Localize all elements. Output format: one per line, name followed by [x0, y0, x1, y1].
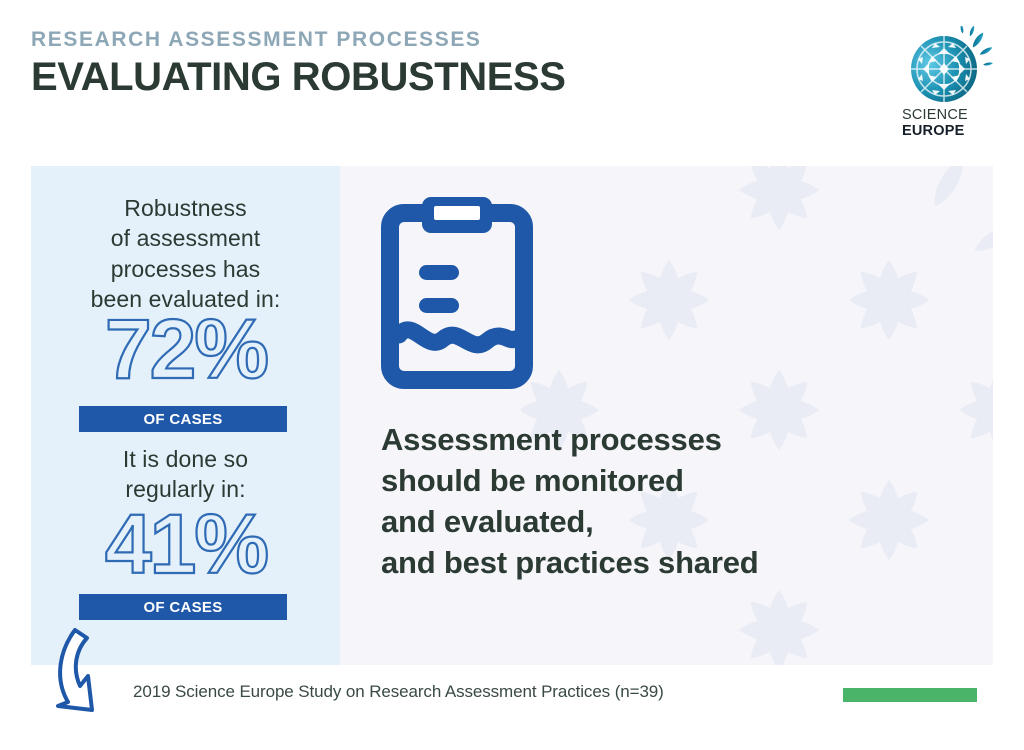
- stat-badge-2: OF CASES: [79, 594, 287, 620]
- stat-value-2: 41%: [31, 503, 340, 587]
- green-accent-bar: [843, 688, 977, 702]
- science-europe-sphere-icon: [902, 26, 994, 106]
- stat-badge-label-1: OF CASES: [143, 411, 222, 428]
- stat-badge-label-2: OF CASES: [143, 599, 222, 616]
- percent-72-outline: 72%: [77, 308, 295, 392]
- logo-wordmark: SCIENCE EUROPE: [902, 108, 994, 138]
- percent-72-text: 72%: [104, 308, 266, 392]
- percent-41-text: 41%: [104, 503, 266, 587]
- logo-text-europe: EUROPE: [902, 124, 994, 139]
- stat-value-1: 72%: [31, 308, 340, 392]
- logo-text-science: SCIENCE: [902, 108, 994, 123]
- stat-badge-1: OF CASES: [79, 406, 287, 432]
- footnote-text: 2019 Science Europe Study on Research As…: [133, 682, 664, 702]
- stat-caption-1: Robustness of assessment processes has b…: [31, 193, 340, 314]
- page-header: RESEARCH ASSESSMENT PROCESSES EVALUATING…: [31, 28, 891, 100]
- page-title: EVALUATING ROBUSTNESS: [31, 54, 891, 100]
- eyebrow-text: RESEARCH ASSESSMENT PROCESSES: [31, 28, 891, 51]
- curved-down-arrow-icon: [52, 628, 128, 712]
- floral-sphere-watermark: [479, 166, 993, 665]
- percent-41-outline: 41%: [77, 503, 295, 587]
- stat-caption-2: It is done so regularly in:: [31, 444, 340, 505]
- main-message: Assessment processes should be monitored…: [381, 420, 941, 584]
- science-europe-logo: SCIENCE EUROPE: [894, 26, 1002, 144]
- clipboard-icon: [381, 193, 533, 390]
